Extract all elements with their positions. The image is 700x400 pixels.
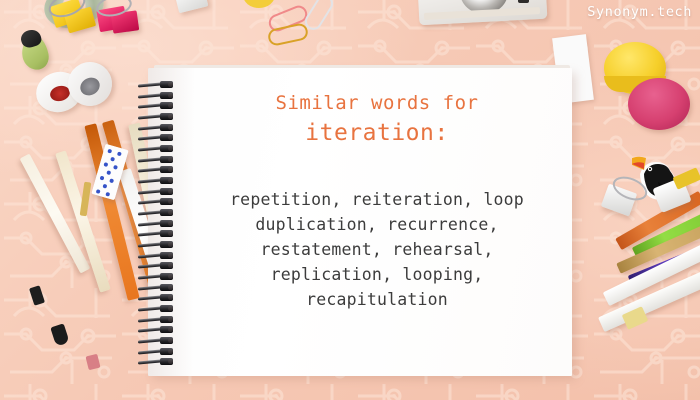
synonym-line: replication, looping, [194,262,560,287]
coil-punch-hole [168,349,173,354]
spiral-coil-loop [138,103,178,109]
spiral-coil-loop [138,274,178,280]
desk-scene: Similar words for iteration: repetition,… [0,0,700,400]
coil-punch-hole [168,210,173,215]
spiral-coil-loop [138,199,178,205]
page-content: Similar words for iteration: repetition,… [194,90,560,312]
page-title-prefix: Similar words for [194,90,560,116]
coil-punch-hole [168,285,173,290]
coil-punch-hole [168,274,173,279]
coil-punch-hole [168,157,173,162]
synonym-line: restatement, rehearsal, [194,237,560,262]
spiral-coil-loop [138,295,178,301]
spiral-coil-loop [138,317,178,323]
spiral-coil-loop [138,114,178,120]
coil-punch-hole [168,189,173,194]
spiral-coil-loop [138,157,178,163]
coil-punch-hole [168,93,173,98]
spiral-coil-loop [138,263,178,269]
synonym-line: duplication, recurrence, [194,212,560,237]
spiral-coil-loop [138,146,178,152]
notebook-page: Similar words for iteration: repetition,… [148,68,572,376]
synonym-list: repetition, reiteration, loop duplicatio… [194,187,560,312]
coil-punch-hole [168,82,173,87]
spiral-coil-loop [138,189,178,195]
spiral-coil-loop [138,135,178,141]
coil-punch-hole [168,114,173,119]
spiral-coil-loop [138,338,178,344]
synonym-line: recapitulation [194,287,560,312]
coil-punch-hole [168,253,173,258]
coil-punch-hole [168,306,173,311]
synonym-line: repetition, reiteration, loop [194,187,560,212]
spiral-coil-loop [138,178,178,184]
spiral-coil-loop [138,349,178,355]
coil-punch-hole [168,317,173,322]
camera-button [518,0,529,3]
spiral-coil-loop [138,210,178,216]
notebook: Similar words for iteration: repetition,… [148,68,572,376]
spiral-coil-loop [138,167,178,173]
spiral-coil-loop [138,242,178,248]
spiral-coil-loop [138,125,178,131]
coil-punch-hole [168,338,173,343]
spiral-coil-loop [138,82,178,88]
spiral-coil-loop [138,253,178,259]
spiral-coil-loop [138,285,178,291]
coil-punch-hole [168,221,173,226]
page-title-headword: iteration: [194,117,560,149]
spiral-coil-loop [138,93,178,99]
spiral-coil-loop [138,327,178,333]
coil-punch-hole [168,146,173,151]
spiral-coil-loop [138,221,178,227]
site-logo: Synonym.tech [587,4,692,20]
coil-punch-hole [168,242,173,247]
coil-punch-hole [168,125,173,130]
coil-punch-hole [168,178,173,183]
spiral-coil-loop [138,359,178,365]
spiral-binding [138,82,184,370]
spiral-coil-loop [138,306,178,312]
spiral-coil-loop [138,231,178,237]
macaron-pink [628,78,690,130]
